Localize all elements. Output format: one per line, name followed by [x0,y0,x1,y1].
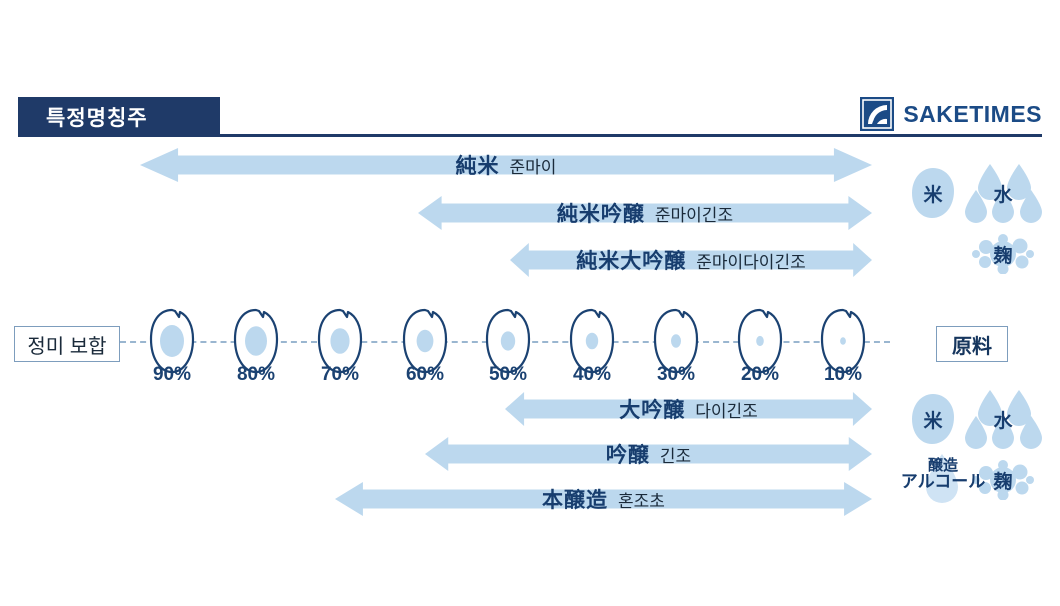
page-title: 특정명칭주 [46,102,148,132]
koji-icon: 麹 [972,234,1034,274]
polishing-ratio-value: 60% [390,364,460,386]
brewers-alcohol-label: 醸造アルコール [884,458,1002,491]
rice-icon: 米 [910,166,956,220]
arrow-upper-0 [140,148,872,182]
saketimes-logo: SAKETIMES [860,96,1042,132]
ingredients-honjozo-group: 米水麹醸造アルコール [902,388,1060,518]
brewers-alcohol-line2: アルコール [884,473,1002,490]
rice-icon: 米 [910,392,956,446]
polishing-ratio-value: 20% [725,364,795,386]
page-title-bar: 특정명칭주 [18,97,220,137]
water-icon: 水 [964,388,1042,450]
logo-text: SAKETIMES [903,101,1042,128]
polishing-ratio-value: 40% [557,364,627,386]
raw-materials-label: 原料 [936,326,1008,362]
header-divider [220,134,1042,137]
polishing-ratio-value: 50% [473,364,543,386]
polishing-ratio-label: 정미 보합 [14,326,120,362]
polishing-ratio-value: 90% [137,364,207,386]
polishing-ratio-value: 10% [808,364,878,386]
arrow-lower-0 [505,392,872,426]
brewers-alcohol-line1: 醸造 [884,458,1002,473]
arrow-upper-1 [418,196,872,230]
polishing-ratio-value: 30% [641,364,711,386]
water-icon: 水 [964,162,1042,224]
ingredients-junmai-group: 米水麹 [902,162,1060,272]
infographic-canvas: 특정명칭주 SAKETIMES 純米준마이純米吟醸준마이긴조純米大吟醸준마이다이… [0,0,1060,606]
arrow-lower-1 [425,437,872,471]
polishing-ratio-value: 70% [305,364,375,386]
arrow-lower-2 [335,482,872,516]
saketimes-swoosh-icon [860,97,894,131]
arrow-upper-2 [510,243,872,277]
polishing-ratio-value: 80% [221,364,291,386]
